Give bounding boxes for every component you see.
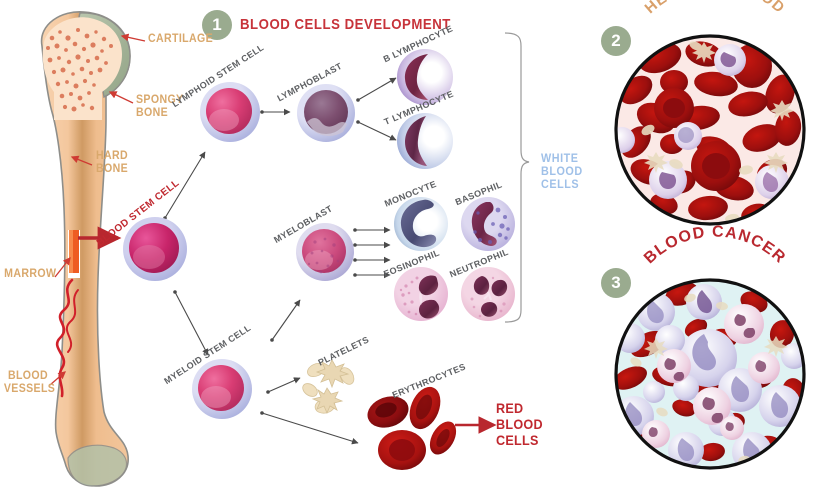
illustration-canvas: 1 BLOOD CELLS DEVELOPMENT xyxy=(0,0,820,500)
label-basophil: BASOPHIL xyxy=(460,196,516,252)
label-lymphoblast: LYMPHOBLAST xyxy=(295,82,357,144)
label-red-blood-cells: RED BLOOD CELLS xyxy=(496,400,543,448)
svg-text:HEALTHY BLOOD: HEALTHY BLOOD xyxy=(642,0,789,17)
svg-text:BLOOD CANCER: BLOOD CANCER xyxy=(641,223,789,267)
label-myeloid-stem-cell: MYELOID STEM CELL xyxy=(190,357,254,421)
label-white-blood-cells: WHITE BLOOD CELLS xyxy=(541,152,583,191)
panel-blood-cancer xyxy=(612,276,808,472)
label-neutrophil: NEUTROPHIL xyxy=(460,266,516,322)
label-eosinophil: EOSINOPHIL xyxy=(393,266,449,322)
label-myeloblast: MYELOBLAST xyxy=(295,222,355,282)
panel-healthy-blood xyxy=(612,32,808,228)
label-blood-stem-cell: BLOOD STEM CELL xyxy=(121,215,189,283)
label-lymphoid-stem-cell: LYMPHOID STEM CELL xyxy=(198,80,262,144)
label-t-lymphocyte: T LYMPHOCYTE xyxy=(396,112,454,170)
label-erythrocytes: ERYTHROCYTES xyxy=(360,390,470,480)
label-monocyte: MONOCYTE xyxy=(393,196,449,252)
